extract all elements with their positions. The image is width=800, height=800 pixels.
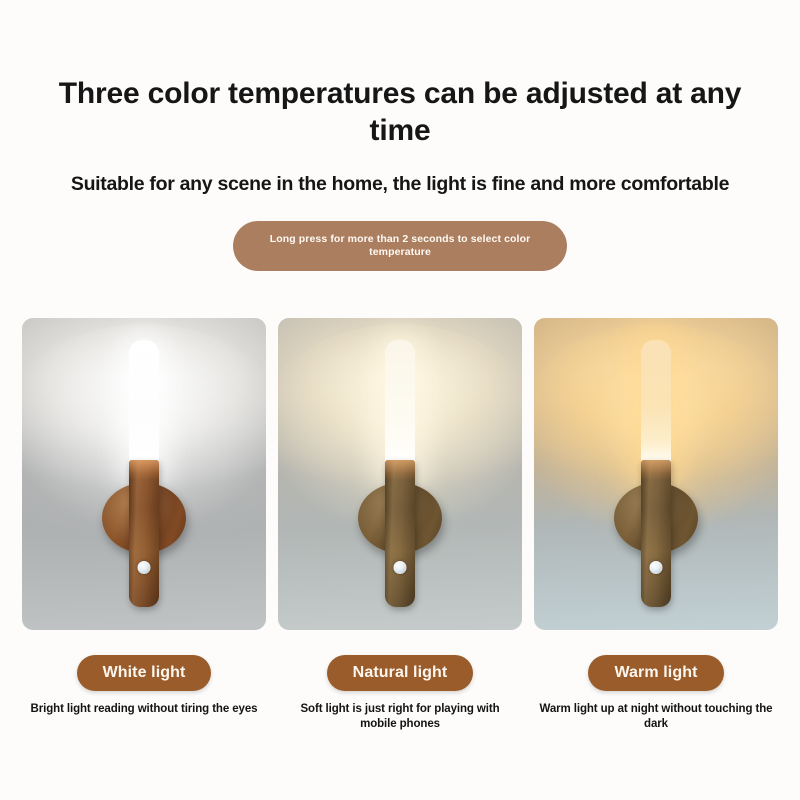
light-tube	[641, 340, 671, 477]
mode-tag-label: White light	[103, 664, 186, 682]
light-tube	[385, 340, 415, 477]
sensor-button-icon	[138, 561, 151, 574]
wall-lamp	[84, 318, 204, 630]
handle-light-spill	[385, 460, 415, 481]
handle-light-spill	[129, 460, 159, 481]
product-image-gallery	[22, 318, 778, 630]
handle-light-spill	[641, 460, 671, 481]
wood-handle	[385, 460, 415, 607]
instruction-banner: Long press for more than 2 seconds to se…	[233, 221, 567, 271]
mode-tag-label: Warm light	[614, 664, 697, 682]
mode-label-white: White light Bright light reading without…	[22, 655, 266, 755]
mode-label-row: White light Bright light reading without…	[22, 655, 778, 755]
wall-lamp	[340, 318, 460, 630]
wood-handle	[129, 460, 159, 607]
mode-tag-warm-light: Warm light	[588, 655, 723, 691]
page-subtitle: Suitable for any scene in the home, the …	[30, 173, 770, 196]
sensor-button-icon	[394, 561, 407, 574]
wood-handle	[641, 460, 671, 607]
product-photo-white-light	[22, 318, 266, 630]
light-tube	[129, 340, 159, 477]
wall-lamp	[596, 318, 716, 630]
page-title: Three color temperatures can be adjusted…	[50, 76, 750, 149]
mode-caption: Warm light up at night without touching …	[534, 702, 778, 732]
mode-tag-label: Natural light	[353, 664, 448, 682]
mode-caption: Soft light is just right for playing wit…	[278, 702, 522, 732]
sensor-button-icon	[650, 561, 663, 574]
product-photo-natural-light	[278, 318, 522, 630]
mode-tag-natural-light: Natural light	[327, 655, 474, 691]
instruction-banner-text: Long press for more than 2 seconds to se…	[259, 233, 541, 259]
mode-label-warm: Warm light Warm light up at night withou…	[534, 655, 778, 755]
mode-caption: Bright light reading without tiring the …	[27, 702, 262, 717]
product-photo-warm-light	[534, 318, 778, 630]
mode-tag-white-light: White light	[77, 655, 212, 691]
mode-label-natural: Natural light Soft light is just right f…	[278, 655, 522, 755]
